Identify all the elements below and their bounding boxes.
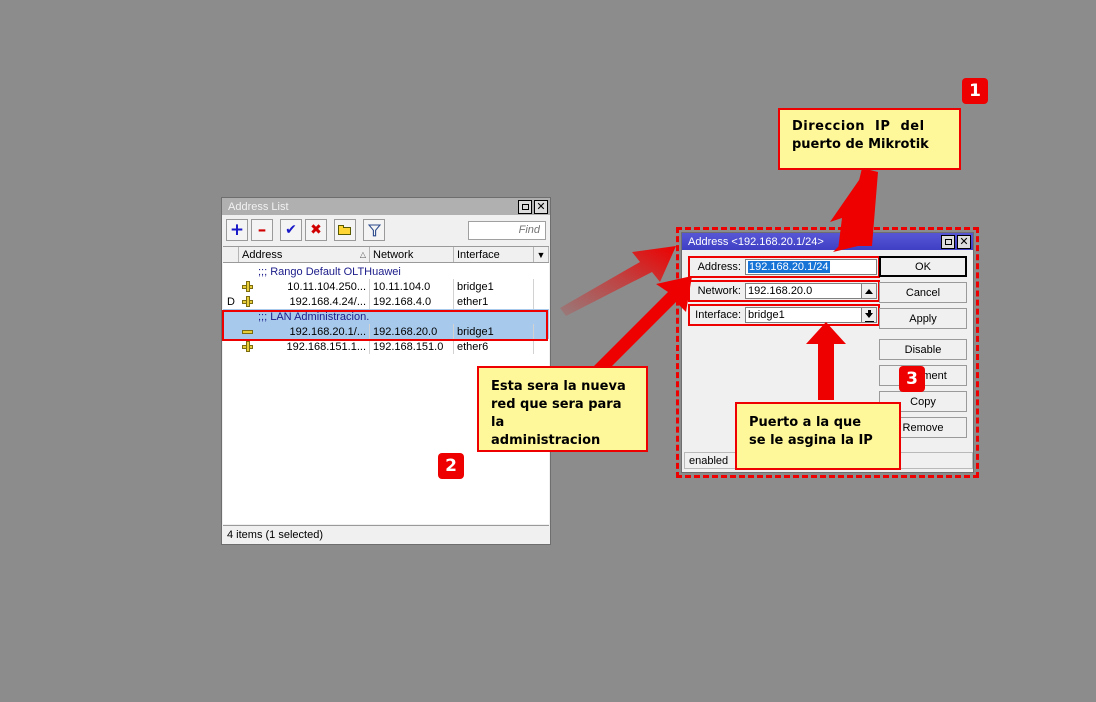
screen-root: Address List ✕ + – ✔ ✖ Address bbox=[0, 0, 1096, 702]
enable-button[interactable]: ✔ bbox=[280, 219, 302, 241]
interface-field-label: Interface: bbox=[691, 309, 745, 321]
address-dialog-title: Address <192.168.20.1/24> bbox=[688, 236, 939, 248]
disable-button[interactable]: Disable bbox=[879, 339, 967, 360]
badge-3: 3 bbox=[899, 366, 925, 392]
interface-input[interactable]: bridge1 bbox=[745, 307, 862, 323]
badge-2: 2 bbox=[438, 453, 464, 479]
network-field-row: Network: 192.168.20.0 bbox=[688, 280, 880, 302]
callout-3-line-2: se le asgina la IP bbox=[749, 432, 887, 450]
row-flag: D bbox=[223, 294, 239, 309]
chevron-down-icon: ▼ bbox=[537, 250, 546, 260]
row-address-text: 10.11.104.250... bbox=[287, 281, 366, 293]
search-input[interactable] bbox=[472, 223, 542, 237]
minus-icon: – bbox=[258, 222, 267, 239]
row-comment: ;;; LAN Administracion. bbox=[239, 309, 549, 324]
callout-2-line-3: administracion bbox=[491, 432, 634, 450]
add-button[interactable]: + bbox=[226, 219, 248, 241]
apply-button[interactable]: Apply bbox=[879, 308, 967, 329]
row-flag bbox=[223, 279, 239, 294]
check-icon: ✔ bbox=[285, 223, 297, 237]
callout-1-line-1: Direccion IP del bbox=[792, 118, 947, 136]
column-header-interface[interactable]: Interface bbox=[454, 247, 534, 262]
table-row[interactable]: ;;; LAN Administracion. bbox=[223, 309, 549, 324]
table-header-row: Address △ Network Interface ▼ bbox=[223, 247, 549, 263]
status-bar: 4 items (1 selected) bbox=[223, 525, 549, 543]
interface-field-row: Interface: bridge1 bbox=[688, 304, 880, 326]
close-icon[interactable]: ✕ bbox=[957, 235, 971, 249]
badge-1: 1 bbox=[962, 78, 988, 104]
row-interface: ether6 bbox=[454, 339, 534, 354]
row-address: 192.168.20.1/... bbox=[239, 324, 370, 339]
table-row[interactable]: 192.168.20.1/... 192.168.20.0 bridge1 bbox=[223, 324, 549, 339]
network-expand-button[interactable] bbox=[862, 283, 877, 299]
table-row[interactable]: D 192.168.4.24/... 192.168.4.0 ether1 bbox=[223, 294, 549, 309]
address-list-titlebar[interactable]: Address List ✕ bbox=[222, 198, 550, 215]
address-field-label: Address: bbox=[691, 261, 745, 273]
row-flag bbox=[223, 264, 239, 279]
callout-2: Esta sera la nueva red que sera para la … bbox=[477, 366, 648, 452]
table-row[interactable]: 192.168.151.1... 192.168.151.0 ether6 bbox=[223, 339, 549, 354]
table-row[interactable]: 10.11.104.250... 10.11.104.0 bridge1 bbox=[223, 279, 549, 294]
column-header-network[interactable]: Network bbox=[370, 247, 454, 262]
cross-icon: ✖ bbox=[310, 223, 322, 237]
remove-button[interactable]: – bbox=[251, 219, 273, 241]
address-dialog-titlebar[interactable]: Address <192.168.20.1/24> ✕ bbox=[682, 233, 973, 250]
row-interface: bridge1 bbox=[454, 279, 534, 294]
column-header-address-label: Address bbox=[242, 249, 282, 261]
row-network: 192.168.4.0 bbox=[370, 294, 454, 309]
address-field-row: Address: 192.168.20.1/24 bbox=[688, 256, 880, 278]
address-input[interactable]: 192.168.20.1/24 bbox=[745, 259, 877, 275]
callout-2-line-1: Esta sera la nueva bbox=[491, 378, 634, 396]
network-input-value: 192.168.20.0 bbox=[748, 285, 812, 297]
triangle-up-icon bbox=[865, 289, 873, 294]
callout-3: Puerto a la que se le asgina la IP bbox=[735, 402, 901, 470]
column-chooser-button[interactable]: ▼ bbox=[534, 247, 549, 262]
row-address: 192.168.4.24/... bbox=[239, 294, 370, 309]
interface-dropdown-button[interactable] bbox=[862, 307, 877, 323]
address-bar-icon bbox=[242, 326, 253, 337]
address-list-toolbar: + – ✔ ✖ bbox=[222, 215, 550, 245]
row-address: 10.11.104.250... bbox=[239, 279, 370, 294]
comment-button[interactable] bbox=[334, 219, 356, 241]
folder-icon bbox=[338, 225, 352, 236]
address-cross-icon bbox=[242, 296, 253, 307]
filter-button[interactable] bbox=[363, 219, 385, 241]
row-comment: ;;; Rango Default OLTHuawei bbox=[239, 264, 549, 279]
table-row[interactable]: ;;; Rango Default OLTHuawei bbox=[223, 264, 549, 279]
address-cross-icon bbox=[242, 281, 253, 292]
column-header-address[interactable]: Address △ bbox=[239, 247, 370, 262]
maximize-icon[interactable] bbox=[518, 200, 532, 214]
cancel-button[interactable]: Cancel bbox=[879, 282, 967, 303]
maximize-icon[interactable] bbox=[941, 235, 955, 249]
ok-button[interactable]: OK bbox=[879, 256, 967, 277]
column-header-flags[interactable] bbox=[223, 247, 239, 262]
arrow-list-to-dialog bbox=[560, 246, 676, 316]
row-interface: ether1 bbox=[454, 294, 534, 309]
row-flag bbox=[223, 339, 239, 354]
address-list-title: Address List bbox=[228, 201, 516, 213]
funnel-icon bbox=[368, 224, 381, 237]
close-icon[interactable]: ✕ bbox=[534, 200, 548, 214]
row-flag bbox=[223, 324, 239, 339]
row-interface: bridge1 bbox=[454, 324, 534, 339]
row-network: 192.168.151.0 bbox=[370, 339, 454, 354]
row-address: 192.168.151.1... bbox=[239, 339, 370, 354]
disable-button[interactable]: ✖ bbox=[305, 219, 327, 241]
address-cross-icon bbox=[242, 341, 253, 352]
find-box[interactable] bbox=[468, 221, 546, 240]
plus-icon: + bbox=[230, 222, 244, 239]
network-input[interactable]: 192.168.20.0 bbox=[745, 283, 862, 299]
callout-3-line-1: Puerto a la que bbox=[749, 414, 887, 432]
sort-ascending-icon: △ bbox=[360, 250, 366, 259]
arrow-down-icon bbox=[865, 310, 874, 320]
network-field-label: Network: bbox=[691, 285, 745, 297]
row-address-text: 192.168.20.1/... bbox=[290, 326, 366, 338]
row-network: 10.11.104.0 bbox=[370, 279, 454, 294]
interface-input-value: bridge1 bbox=[748, 309, 785, 321]
callout-1-line-2: puerto de Mikrotik bbox=[792, 136, 947, 154]
row-address-text: 192.168.4.24/... bbox=[290, 296, 366, 308]
row-flag bbox=[223, 309, 239, 324]
callout-2-line-2: red que sera para la bbox=[491, 396, 634, 432]
row-network: 192.168.20.0 bbox=[370, 324, 454, 339]
callout-1: Direccion IP del puerto de Mikrotik bbox=[778, 108, 961, 170]
row-address-text: 192.168.151.1... bbox=[286, 341, 366, 353]
address-input-value: 192.168.20.1/24 bbox=[748, 261, 830, 273]
